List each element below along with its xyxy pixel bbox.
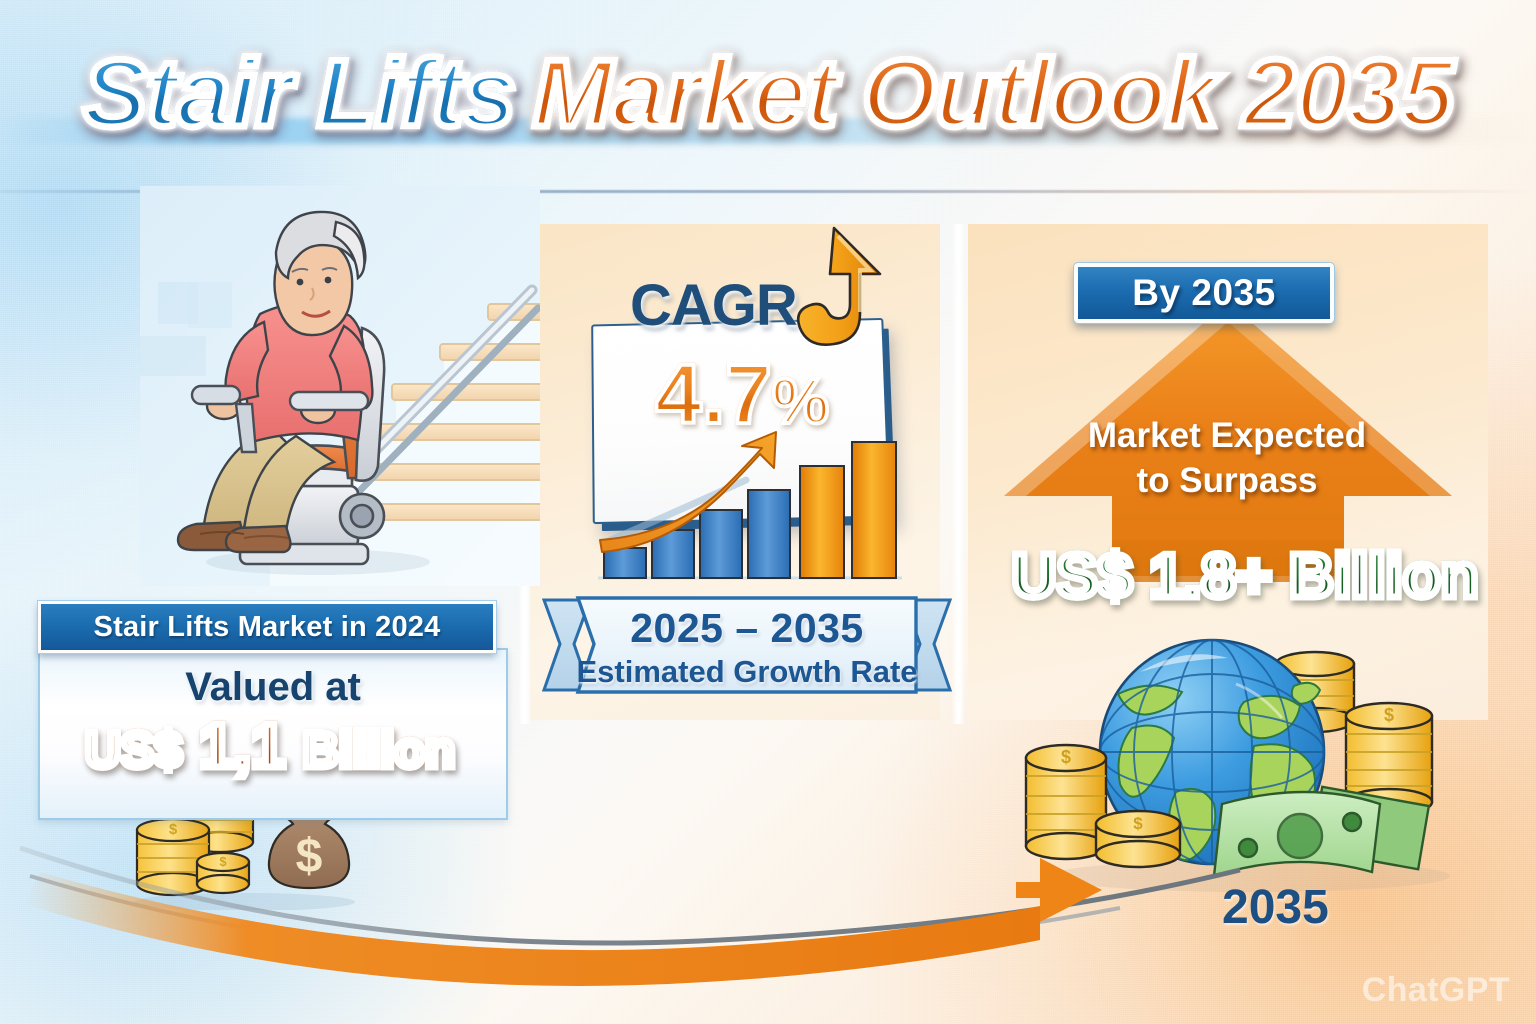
chatgpt-watermark: ChatGPT xyxy=(1362,971,1510,1010)
right-panel-value: US$ 1.8+ Billion xyxy=(980,546,1510,608)
left-value-number: 1,1 xyxy=(199,712,285,781)
left-panel-header-label: Stair Lifts Market in 2024 xyxy=(94,611,441,644)
right-value-number: 1.8+ xyxy=(1149,542,1271,611)
right-value-unit: Billion xyxy=(1289,542,1478,611)
left-panel-value: US$ 1,1 Billion xyxy=(20,716,520,778)
title-part-blue: Stair Lifts xyxy=(83,46,515,142)
cagr-number: 4.7 xyxy=(655,347,772,441)
ascending-bar-chart-icon xyxy=(590,430,910,590)
growth-rate-ribbon xyxy=(542,594,952,696)
panel-divider-right xyxy=(952,224,965,724)
left-panel-header: Stair Lifts Market in 2024 xyxy=(38,601,496,653)
by-2035-badge-label: By 2035 xyxy=(1132,272,1275,314)
svg-text:$: $ xyxy=(1061,747,1071,767)
page-title: Stair LiftsMarket Outlook 2035 xyxy=(0,46,1536,142)
right-value-currency: US$ xyxy=(1012,542,1133,611)
left-value-currency: US$ xyxy=(85,722,182,778)
cagr-value: 4.7% xyxy=(592,352,892,436)
left-panel-subtitle: Valued at xyxy=(38,665,508,710)
elderly-woman-on-stair-lift-illustration xyxy=(140,186,540,586)
left-value-unit: Billion xyxy=(303,722,456,778)
orange-up-arrow-icon xyxy=(780,222,888,352)
cagr-percent-sign: % xyxy=(772,365,829,437)
svg-text:$: $ xyxy=(1384,705,1394,725)
cagr-label: CAGR xyxy=(630,272,797,339)
by-2035-badge: By 2035 xyxy=(1074,263,1334,323)
timeline-end-year: 2035 xyxy=(1222,880,1329,935)
infographic-canvas: Stair LiftsMarket Outlook 2035 xyxy=(0,0,1536,1024)
title-part-orange: Market Outlook 2035 xyxy=(533,46,1453,142)
